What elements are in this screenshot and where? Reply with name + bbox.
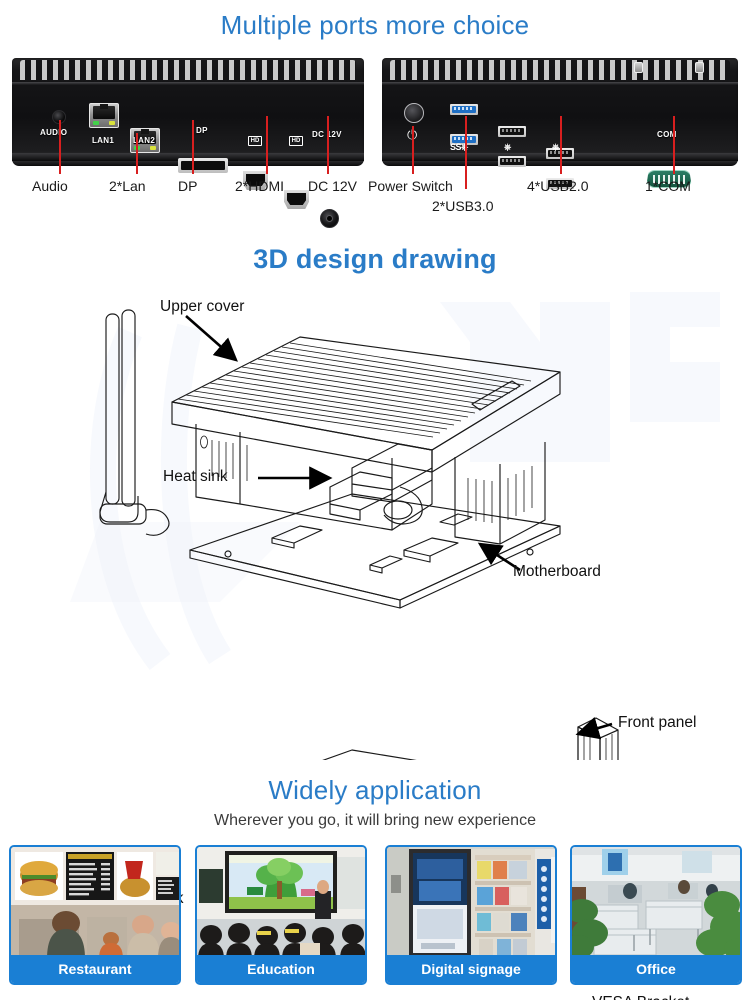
app-card-office[interactable]: Office bbox=[570, 845, 742, 985]
chassis-seam-front bbox=[382, 82, 738, 85]
applications-section: Restaurant bbox=[0, 845, 750, 993]
arrow-front-panel bbox=[578, 724, 612, 734]
callout-label-dc: DC 12V bbox=[308, 178, 357, 194]
usb2-port-2 bbox=[498, 156, 526, 167]
restaurant-thumbnail bbox=[11, 847, 179, 959]
label-vesa-bracket: VESA Bracket bbox=[592, 994, 689, 1000]
chassis-seam-back bbox=[12, 82, 364, 85]
power-button[interactable] bbox=[404, 103, 424, 123]
lan2-led-yellow bbox=[150, 146, 156, 150]
app-card-digital-signage[interactable]: Digital signage bbox=[385, 845, 557, 985]
digital-signage-thumbnail bbox=[387, 847, 555, 959]
com-screw-right bbox=[695, 62, 704, 73]
drawing-section-title: 3D design drawing bbox=[0, 244, 750, 275]
app-caption-restaurant: Restaurant bbox=[11, 955, 179, 983]
com-screw-left bbox=[634, 62, 643, 73]
arrow-upper-cover bbox=[186, 316, 236, 360]
audio-silk-label: AUDIO bbox=[40, 128, 67, 137]
usb3-port-1 bbox=[450, 104, 478, 115]
ports-section-title: Multiple ports more choice bbox=[0, 10, 750, 41]
label-upper-cover: Upper cover bbox=[160, 298, 244, 316]
displayport-port bbox=[178, 158, 228, 173]
hdmi-1-hd-logo: HD bbox=[248, 136, 262, 146]
vent-strip-front bbox=[390, 60, 730, 80]
usb2-port-1 bbox=[498, 126, 526, 137]
drawing-section: Upper cover Heat sink Front panel Mother… bbox=[0, 282, 750, 760]
usb-icon-1: ⎈ bbox=[504, 142, 511, 153]
leader-arrows bbox=[0, 282, 750, 760]
callout-label-lan: 2*Lan bbox=[109, 178, 146, 194]
lan1-led-yellow bbox=[109, 121, 115, 125]
callout-label-hdmi: 2*HDMI bbox=[235, 178, 284, 194]
callout-label-usb2: 4*USB2.0 bbox=[527, 178, 588, 194]
ports-section: AUDIO LAN1 LAN2 DP HD HD bbox=[0, 58, 750, 233]
callout-line-usb2 bbox=[560, 116, 562, 174]
callout-label-com: 1*COM bbox=[645, 178, 691, 194]
callout-label-audio: Audio bbox=[32, 178, 68, 194]
callout-line-power bbox=[412, 126, 414, 174]
lan1-silk-label: LAN1 bbox=[92, 136, 114, 145]
back-panel-photo: AUDIO LAN1 LAN2 DP HD HD bbox=[12, 58, 364, 166]
applications-subtitle: Wherever you go, it will bring new exper… bbox=[0, 812, 750, 830]
vent-strip-back bbox=[20, 60, 356, 80]
label-front-panel: Front panel bbox=[618, 714, 696, 732]
app-card-education[interactable]: Education bbox=[195, 845, 367, 985]
app-caption-education: Education bbox=[197, 955, 365, 983]
app-caption-office: Office bbox=[572, 955, 740, 983]
hdmi-port-2 bbox=[284, 190, 309, 209]
callout-line-audio bbox=[59, 120, 61, 174]
lan1-led-green bbox=[93, 121, 99, 125]
app-caption-digital-signage: Digital signage bbox=[387, 955, 555, 983]
dp-silk-label: DP bbox=[196, 126, 208, 135]
callout-label-dp: DP bbox=[178, 178, 197, 194]
education-thumbnail bbox=[197, 847, 365, 959]
ss-text: SS bbox=[450, 142, 461, 152]
callout-line-dc bbox=[327, 116, 329, 174]
callout-label-power: Power Switch bbox=[368, 178, 453, 194]
office-thumbnail bbox=[572, 847, 740, 959]
hdmi-2-hd-logo: HD bbox=[289, 136, 303, 146]
product-infographic-page: Multiple ports more choice AUDIO LAN1 LA… bbox=[0, 0, 750, 1000]
callout-line-com bbox=[673, 116, 675, 174]
callout-line-usb3 bbox=[465, 116, 467, 189]
applications-section-title: Widely application bbox=[0, 775, 750, 806]
label-motherboard: Motherboard bbox=[513, 563, 601, 581]
callout-line-hdmi bbox=[266, 116, 268, 174]
label-heat-sink: Heat sink bbox=[163, 468, 228, 486]
callout-label-usb3: 2*USB3.0 bbox=[432, 198, 493, 214]
app-card-restaurant[interactable]: Restaurant bbox=[9, 845, 181, 985]
callout-line-dp bbox=[192, 120, 194, 174]
usb-icon-2: ⎈ bbox=[552, 142, 559, 153]
callout-line-lan bbox=[136, 133, 138, 174]
dc-power-jack bbox=[320, 209, 339, 228]
lan1-port bbox=[89, 103, 119, 128]
